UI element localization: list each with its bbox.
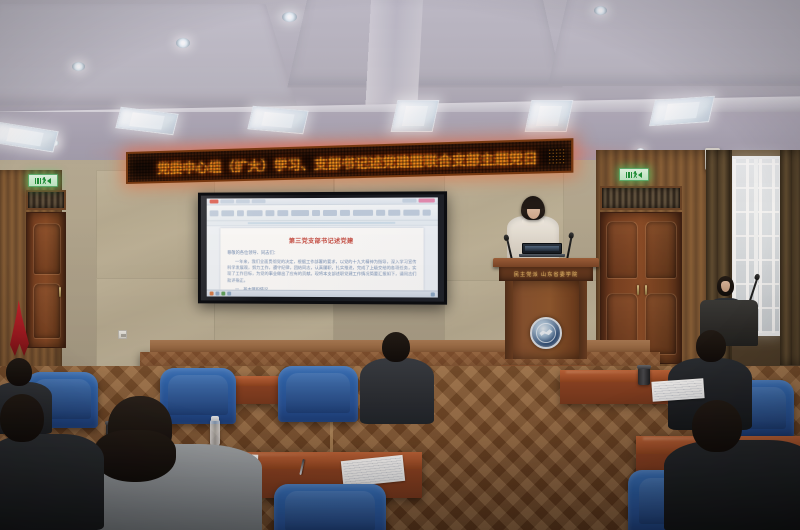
ribbon-button[interactable] xyxy=(266,210,275,216)
power-outlet[interactable] xyxy=(118,330,127,339)
ribbon-button[interactable] xyxy=(277,210,288,216)
exit-text-glyphs xyxy=(35,178,42,184)
downlight-icon xyxy=(282,12,297,22)
door-panel xyxy=(606,221,638,279)
attendee-hair xyxy=(94,430,176,482)
panel-light xyxy=(649,96,715,127)
system-tray-icon[interactable] xyxy=(431,292,435,296)
door-panel xyxy=(645,221,677,279)
paper-lines xyxy=(343,457,403,485)
curtain-right xyxy=(780,150,800,365)
ribbon-button[interactable] xyxy=(221,210,234,216)
exit-sign-left xyxy=(28,174,58,187)
ribbon-button[interactable] xyxy=(388,209,400,215)
downlight-icon xyxy=(176,38,190,48)
exit-text-glyphs xyxy=(626,172,633,178)
document-ruler xyxy=(207,221,438,227)
os-taskbar[interactable] xyxy=(207,290,438,298)
panel-light xyxy=(525,100,574,132)
chair[interactable] xyxy=(278,366,358,422)
door-handle[interactable] xyxy=(637,285,639,295)
downlight-icon xyxy=(72,62,85,71)
document-paragraph: 一年来，我们全面贯彻党的决定，根据工作部署的要求，以党的十九大精神为指导，深入学… xyxy=(227,259,416,284)
ribbon-button[interactable] xyxy=(323,209,337,215)
podium-side xyxy=(579,281,587,359)
window-controls[interactable] xyxy=(402,199,416,203)
ribbon-button[interactable] xyxy=(210,210,219,216)
door-left[interactable] xyxy=(26,212,66,348)
ribbon-button[interactable] xyxy=(403,209,419,215)
meeting-room-photo: 党委中心组（扩大）学习、支部书记述党建暨联合支部主题党日 xyxy=(0,0,800,530)
panel-light xyxy=(391,100,440,132)
ribbon-button[interactable] xyxy=(247,210,263,216)
attendee-head xyxy=(0,394,44,442)
led-module-dots xyxy=(548,148,564,164)
ribbon-button[interactable] xyxy=(312,210,320,216)
document-tab[interactable] xyxy=(252,199,266,203)
door-transom-left xyxy=(26,190,66,210)
door-panel xyxy=(33,223,61,275)
attendee-coat xyxy=(0,434,104,530)
attendee-foreground-left xyxy=(0,394,104,530)
paper-lines xyxy=(654,380,703,399)
attendee-foreground-right xyxy=(664,400,800,530)
presenter-laptop[interactable] xyxy=(519,243,565,257)
ribbon-button[interactable] xyxy=(340,209,350,215)
ribbon-button[interactable] xyxy=(423,209,431,215)
podium-nameplate-text: 民主党派 山东省委学院 xyxy=(514,271,578,278)
mug-lid xyxy=(637,365,651,369)
door-handle[interactable] xyxy=(645,285,647,295)
ceiling-coffer-right xyxy=(548,0,800,86)
ribbon-button[interactable] xyxy=(376,209,385,215)
podium-side xyxy=(505,281,513,359)
document-salutation: 尊敬的各位领导、同志们： xyxy=(227,250,416,256)
laptop-base xyxy=(519,254,565,257)
attendee-center xyxy=(366,332,428,424)
taskbar-app-icon[interactable] xyxy=(227,292,231,296)
panel-light-inner xyxy=(402,106,429,126)
podium-nameplate: 民主党派 山东省委学院 xyxy=(499,267,593,281)
chair[interactable] xyxy=(274,484,386,530)
laptop-glow xyxy=(525,246,559,251)
app-logo-icon xyxy=(210,199,219,203)
attendee-head xyxy=(382,332,410,362)
ribbon-button[interactable] xyxy=(291,210,309,216)
podium-emblem-icon xyxy=(530,317,562,349)
ribbon-toolbar[interactable] xyxy=(207,205,438,222)
ceiling xyxy=(0,0,800,160)
panel-light-inner xyxy=(664,102,700,121)
running-man-icon xyxy=(633,171,637,178)
ceiling-coffer-center xyxy=(287,0,562,87)
exit-arrow-icon xyxy=(638,172,642,178)
podium-body xyxy=(505,281,587,359)
laptop-screen xyxy=(522,243,562,254)
paper-document[interactable] xyxy=(651,378,704,402)
thermos-mug[interactable] xyxy=(638,368,650,385)
taskbar-app-icon[interactable] xyxy=(216,292,220,296)
exit-sign-right xyxy=(619,168,649,181)
panel-light xyxy=(247,106,309,134)
door-panel xyxy=(33,283,61,339)
panel-light-inner xyxy=(6,128,43,146)
taskbar-app-icon[interactable] xyxy=(221,292,225,296)
start-button-icon[interactable] xyxy=(210,292,214,296)
podium: 民主党派 山东省委学院 xyxy=(497,258,595,366)
door-transom-right xyxy=(600,186,682,210)
attendee-head xyxy=(6,358,32,386)
podium-top xyxy=(493,258,599,267)
presenter-fringe xyxy=(522,201,544,209)
led-banner-text: 党委中心组（扩大）学习、支部书记述党建暨联合支部主题党日 xyxy=(157,146,538,176)
account-chip[interactable] xyxy=(419,198,435,202)
door-handle[interactable] xyxy=(59,287,61,297)
ceiling-coffer-left xyxy=(0,4,298,107)
attendee-coat xyxy=(664,440,800,530)
panel-light-inner xyxy=(261,111,295,128)
ribbon-button[interactable] xyxy=(237,210,244,216)
downlight-icon xyxy=(594,6,607,15)
exit-arrow-icon xyxy=(47,178,51,184)
attendee-coat xyxy=(360,358,434,424)
document-tab[interactable] xyxy=(220,199,234,203)
panel-light-inner xyxy=(130,112,165,129)
panel-light-inner xyxy=(536,106,563,126)
projection-screen: 第三党支部书记述党建 尊敬的各位领导、同志们： 一年来，我们全面贯彻党的决定，根… xyxy=(198,191,447,304)
ribbon-button[interactable] xyxy=(353,209,373,215)
document-title: 第三党支部书记述党建 xyxy=(227,236,416,245)
document-page: 第三党支部书记述党建 尊敬的各位领导、同志们： 一年来，我们全面贯彻党的决定，根… xyxy=(220,228,423,291)
projected-document-app: 第三党支部书记述党建 尊敬的各位领导、同志们： 一年来，我们全面贯彻党的决定，根… xyxy=(207,197,438,297)
attendee-head xyxy=(696,330,726,362)
attendee-head xyxy=(692,400,742,452)
running-man-icon xyxy=(42,177,46,184)
document-tab[interactable] xyxy=(236,199,250,203)
